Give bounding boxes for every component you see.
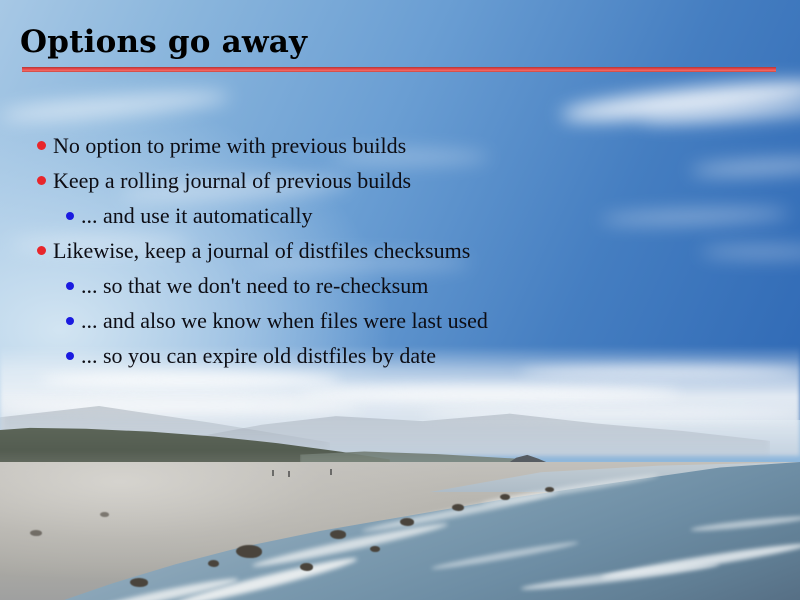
list-item: ... and also we know when files were las… <box>0 303 800 338</box>
list-item: Likewise, keep a journal of distfiles ch… <box>0 233 800 268</box>
beach-rock <box>100 512 109 517</box>
bullet-dot-icon <box>37 141 46 150</box>
beach-figure <box>330 469 332 475</box>
bullet-dot-icon <box>66 282 74 290</box>
beach-rock <box>400 518 414 526</box>
list-item-label: ... and use it automatically <box>81 205 313 227</box>
bullet-list: No option to prime with previous builds … <box>0 128 800 373</box>
bullet-dot-icon <box>66 352 74 360</box>
presentation-slide: Options go away No option to prime with … <box>0 0 800 600</box>
beach-rock <box>208 560 219 567</box>
beach-rock <box>500 494 510 500</box>
list-item: No option to prime with previous builds <box>0 128 800 163</box>
beach-figure <box>288 471 290 477</box>
cloud-streak <box>300 386 680 400</box>
bullet-dot-icon <box>66 317 74 325</box>
beach-rock <box>130 578 148 587</box>
list-item-label: ... so that we don't need to re-checksum <box>81 275 428 297</box>
list-item-label: No option to prime with previous builds <box>53 135 406 157</box>
list-item-label: ... and also we know when files were las… <box>81 310 488 332</box>
beach-rock <box>330 530 346 539</box>
cloud-streak <box>0 400 360 413</box>
beach-rock <box>30 530 42 536</box>
list-item-label: Keep a rolling journal of previous build… <box>53 170 411 192</box>
title-underline-rule <box>22 67 776 72</box>
beach-rock <box>452 504 464 511</box>
bullet-dot-icon <box>66 212 74 220</box>
list-item-label: Likewise, keep a journal of distfiles ch… <box>53 240 470 262</box>
beach-rock <box>300 563 313 571</box>
list-item-label: ... so you can expire old distfiles by d… <box>81 345 436 367</box>
slide-title: Options go away <box>20 24 307 60</box>
list-item: ... so you can expire old distfiles by d… <box>0 338 800 373</box>
list-item: Keep a rolling journal of previous build… <box>0 163 800 198</box>
beach-rock <box>545 487 554 492</box>
beach-figure <box>272 470 274 476</box>
list-item: ... so that we don't need to re-checksum <box>0 268 800 303</box>
beach-rock <box>236 545 262 558</box>
cloud-streak <box>40 372 340 388</box>
bullet-dot-icon <box>37 176 46 185</box>
list-item: ... and use it automatically <box>0 198 800 233</box>
bullet-dot-icon <box>37 246 46 255</box>
beach-rock <box>370 546 380 552</box>
